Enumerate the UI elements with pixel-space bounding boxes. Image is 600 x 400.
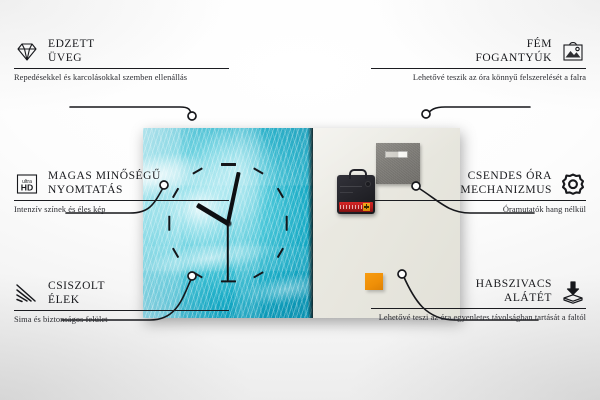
movement-seam [340,186,362,187]
movement-seam-secondary [340,192,353,193]
callout-title-line2: ÉLEK [48,294,105,308]
callout-title-line1: CSENDES ÓRA [460,170,552,184]
clock-tick-12 [221,163,236,165]
callout-metal-hooks: FÉM FOGANTYÚK Lehetővé teszik az óra kön… [371,38,586,84]
clock-tick-8 [172,248,179,258]
clock-tick-9 [168,215,170,230]
clock-tick-3 [285,215,287,230]
callout-description: Repedésekkel és karcolásokkal szemben el… [14,73,229,84]
callout-title-line1: EDZETT [48,38,95,52]
callout-head: ultra HD MAGAS MINŐSÉGŰ NYOMTATÁS [14,170,229,197]
battery [339,202,373,212]
callout-description: Lehetővé teszi az óra egyenletes távolsá… [371,313,586,324]
diamond-icon [14,40,40,64]
callout-description: Sima és biztonságos felület [14,315,229,326]
battery-label [340,205,362,209]
callout-head: EDZETT ÜVEG [14,38,229,65]
callout-title-line1: MAGAS MINŐSÉGŰ [48,170,161,184]
callout-title-line2: FOGANTYÚK [475,52,552,66]
clock-tick-7 [193,272,203,279]
callout-title: CSISZOLT ÉLEK [48,280,105,307]
callout-polished-edges: CSISZOLT ÉLEK Sima és biztonságos felüle… [14,280,229,326]
callout-head: CSISZOLT ÉLEK [14,280,229,307]
callout-divider [371,308,586,309]
callout-title-line2: ALÁTÉT [476,292,552,306]
callout-foam-backing: HABSZIVACS ALÁTÉT Lehetővé teszi az óra … [371,278,586,324]
callout-title: EDZETT ÜVEG [48,38,95,65]
battery-plus-terminal [363,203,370,211]
endpoint-tempered-glass [188,112,196,120]
callout-divider [371,68,586,69]
callout-title: MAGAS MINŐSÉGŰ NYOMTATÁS [48,170,161,197]
quartz-movement [337,175,375,214]
callout-high-quality-print: ultra HD MAGAS MINŐSÉGŰ NYOMTATÁS Intenz… [14,170,229,216]
endpoint-hooks [422,110,430,118]
callout-divider [371,200,586,201]
callout-divider [14,200,229,201]
ultra-hd-icon: ultra HD [14,172,40,196]
callout-title-line1: HABSZIVACS [476,278,552,292]
callout-title-line2: ÜVEG [48,52,95,66]
callout-title-line2: MECHANIZMUS [460,184,552,198]
callout-description: Intenzív színek és éles kép [14,205,229,216]
polished-edges-icon [14,282,40,306]
gear-icon [560,172,586,196]
connector-tempered-glass [70,107,192,116]
callout-description: Lehetővé teszik az óra könnyű felszerelé… [371,73,586,84]
callout-title-line1: CSISZOLT [48,280,105,294]
callout-title: HABSZIVACS ALÁTÉT [476,278,552,305]
press-down-pad-icon [560,280,586,304]
callout-head: HABSZIVACS ALÁTÉT [371,278,586,305]
clock-hand-second [227,223,229,281]
callout-divider [14,310,229,311]
infographic-canvas: EDZETT ÜVEG Repedésekkel és karcolásokka… [0,0,600,400]
keyhole-slot [385,151,408,158]
callout-title-line2: NYOMTATÁS [48,184,161,198]
callout-head: FÉM FOGANTYÚK [371,38,586,65]
callout-title: CSENDES ÓRA MECHANIZMUS [460,170,552,197]
clock-tick-4 [277,248,284,258]
callout-description: Óramutatók hang nélkül [371,205,586,216]
callout-silent-mechanism: CSENDES ÓRA MECHANIZMUS Óramutatók hang … [371,170,586,216]
movement-hanger-loop [349,169,367,179]
svg-text:HD: HD [21,182,33,192]
connector-hooks [427,107,530,114]
clock-tick-2 [277,188,284,198]
callout-title: FÉM FOGANTYÚK [475,38,552,65]
callout-divider [14,68,229,69]
clock-tick-1 [253,167,263,174]
clock-tick-5 [253,272,263,279]
callout-title-line1: FÉM [475,38,552,52]
picture-frame-hanger-icon [560,40,586,64]
callout-head: CSENDES ÓRA MECHANIZMUS [371,170,586,197]
callout-tempered-glass: EDZETT ÜVEG Repedésekkel és karcolásokka… [14,38,229,84]
